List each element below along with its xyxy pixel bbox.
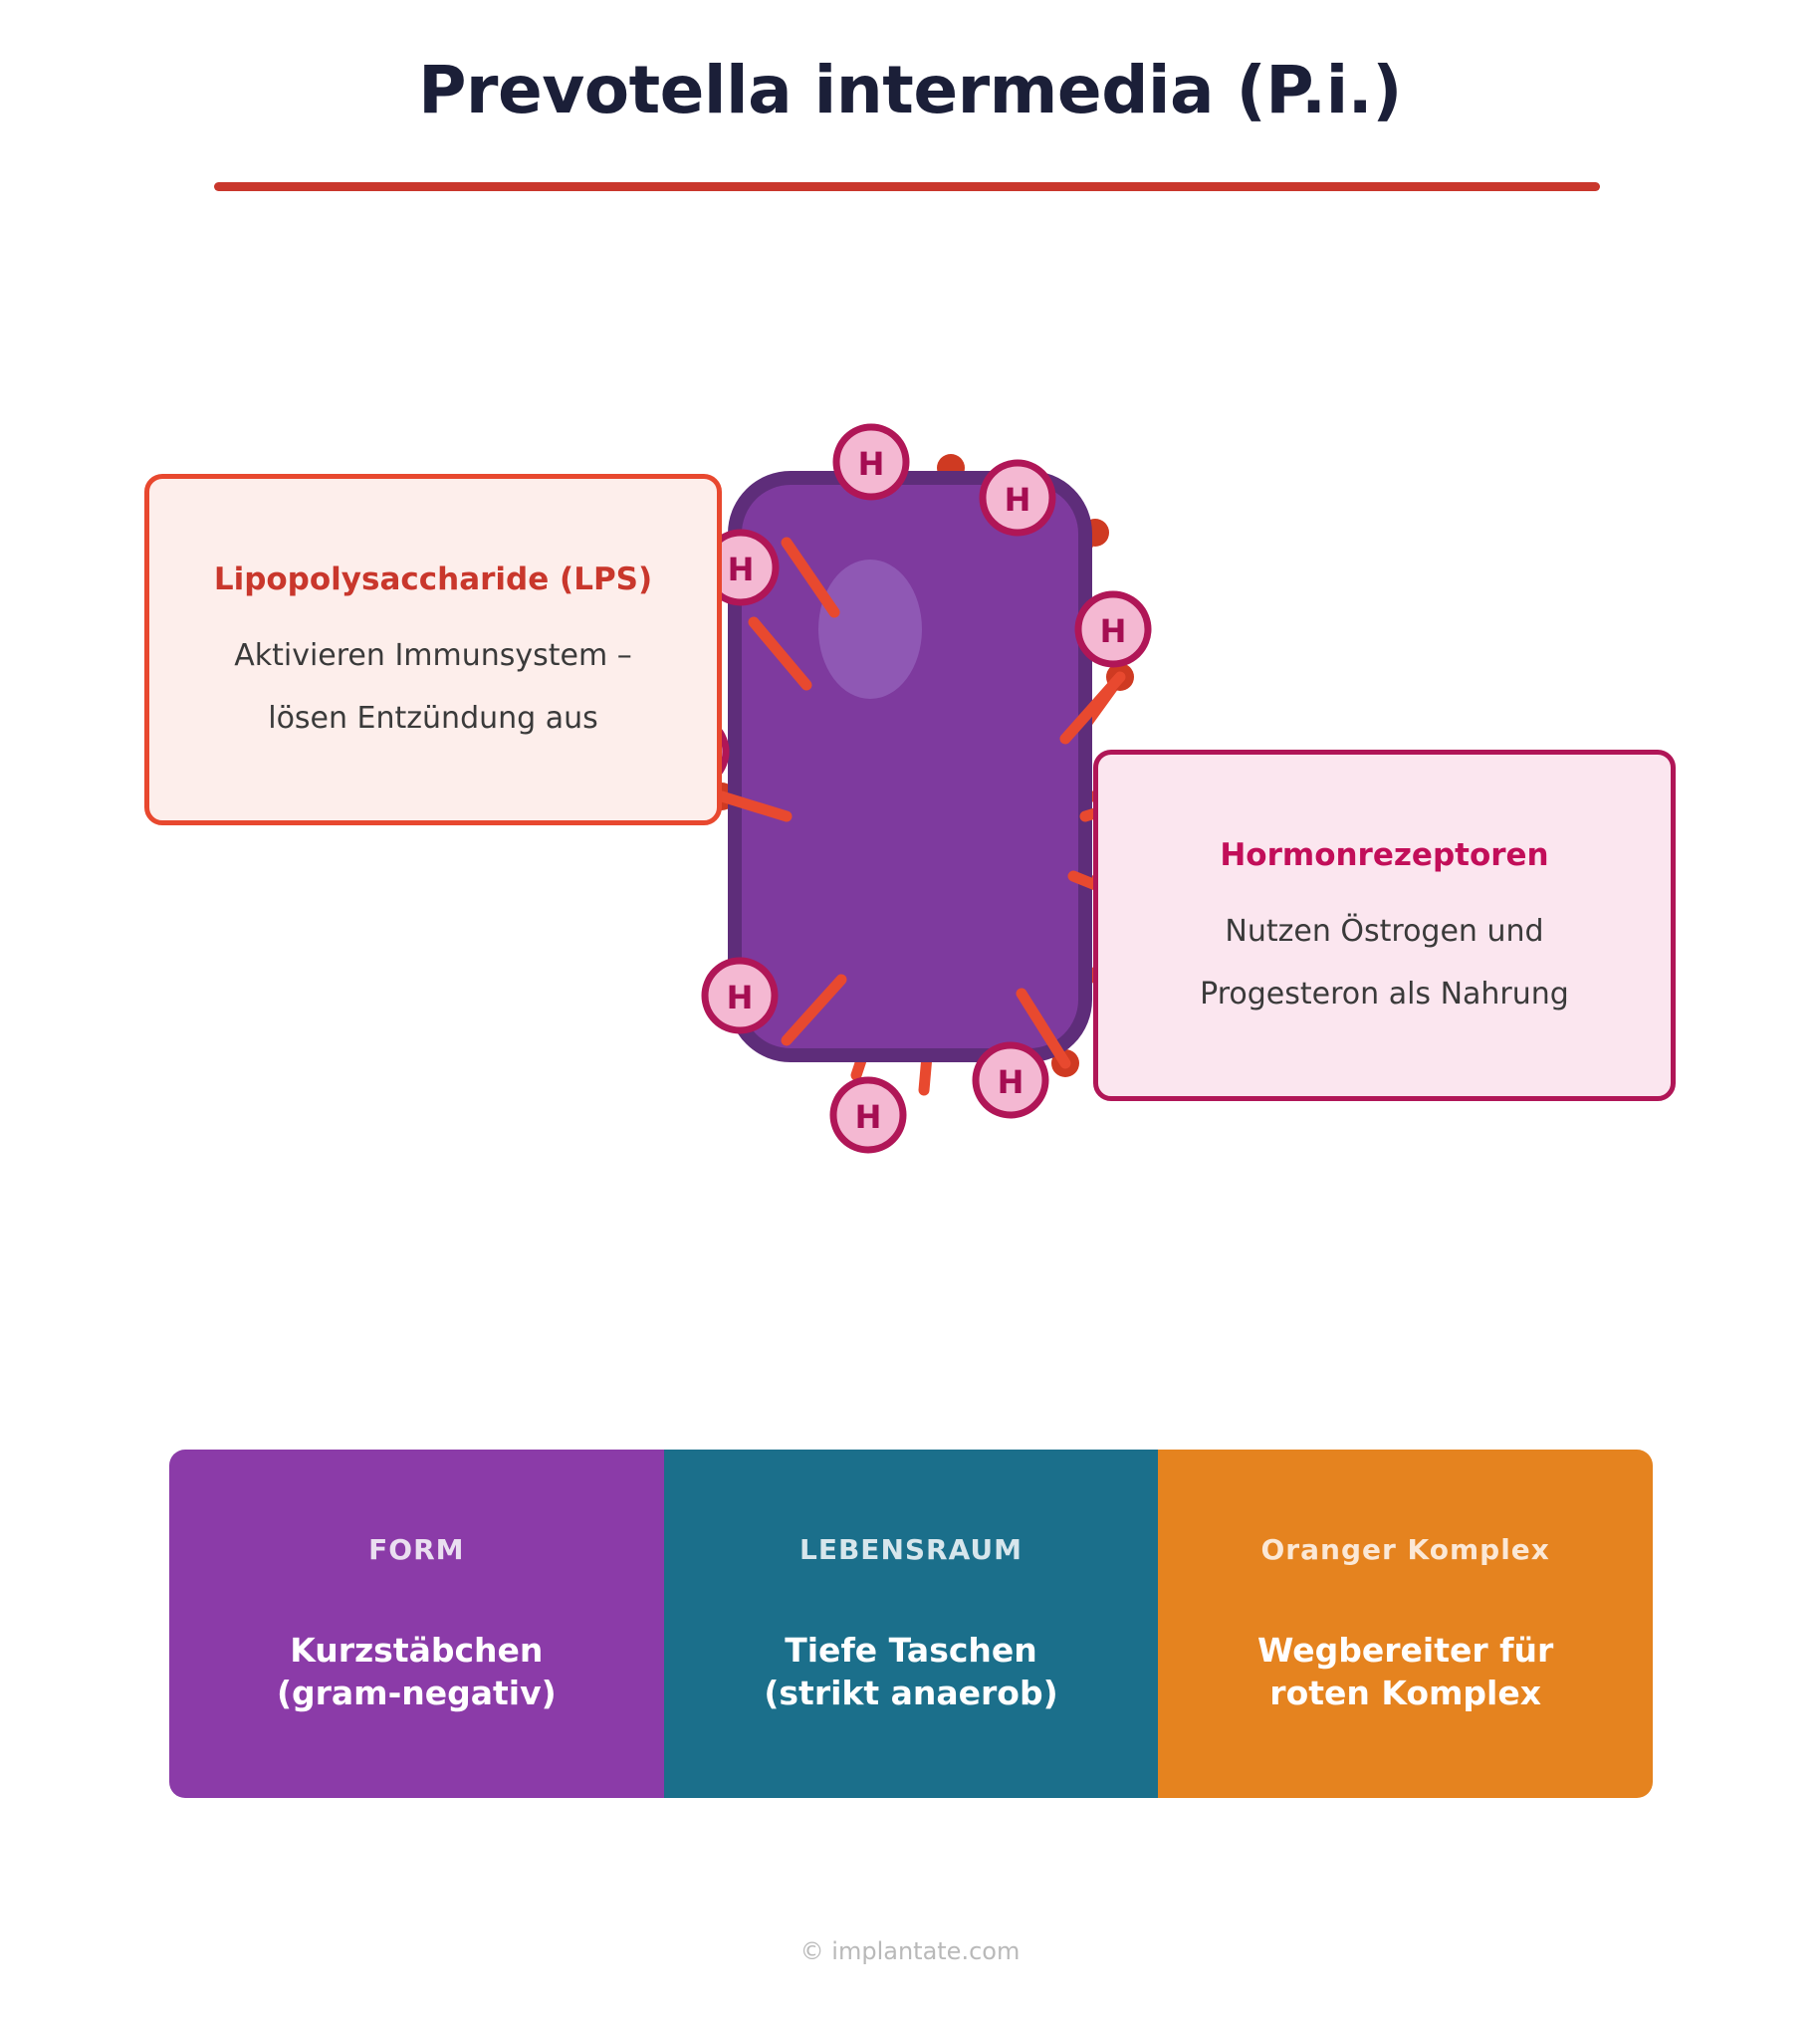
spacer [1124, 950, 1645, 976]
callout-lipopolysaccharide: Lipopolysaccharide (LPS) Aktivieren Immu… [144, 474, 722, 825]
cell-body [735, 478, 1085, 1055]
summary-card-komplex-body: Wegbereiter für roten Komplex [1257, 1630, 1553, 1713]
callout-lps-line1: Aktivieren Immunsystem – [175, 637, 691, 675]
hormone-receptor-badge: H [836, 427, 906, 497]
callout-hormon-title: Hormonrezeptoren [1124, 837, 1645, 874]
hormone-receptor-badge: H [1078, 594, 1148, 664]
summary-card-form-label: FORM [368, 1533, 464, 1566]
page-title: Prevotella intermedia (P.i.) [0, 52, 1820, 128]
spacer [175, 599, 691, 637]
summary-card-form-body: Kurzstäbchen (gram-negativ) [277, 1630, 557, 1713]
svg-text:H: H [998, 1063, 1024, 1101]
callout-hormon-line1: Nutzen Östrogen und [1124, 913, 1645, 951]
summary-card-oranger-komplex: Oranger Komplex Wegbereiter für roten Ko… [1158, 1450, 1653, 1798]
title-underline-rule [214, 182, 1600, 191]
hormone-receptor-badge: H [976, 1045, 1045, 1115]
summary-card-lebensraum-label: LEBENSRAUM [799, 1533, 1023, 1566]
callout-hormonrezeptoren: Hormonrezeptoren Nutzen Östrogen und Pro… [1093, 750, 1676, 1101]
footer-copyright: © implantate.com [0, 1937, 1820, 1965]
svg-text:H: H [855, 1098, 882, 1136]
summary-card-lebensraum: LEBENSRAUM Tiefe Taschen (strikt anaerob… [664, 1450, 1159, 1798]
svg-text:H: H [1005, 481, 1031, 519]
callout-lps-title: Lipopolysaccharide (LPS) [175, 561, 691, 598]
svg-text:H: H [727, 979, 754, 1016]
infographic-page: Prevotella intermedia (P.i.) [0, 0, 1820, 2019]
hormone-receptor-badge: H [983, 463, 1052, 533]
summary-card-row: FORM Kurzstäbchen (gram-negativ) LEBENSR… [169, 1450, 1653, 1798]
summary-card-lebensraum-body-line1: Tiefe Taschen [764, 1630, 1057, 1672]
summary-card-lebensraum-body: Tiefe Taschen (strikt anaerob) [764, 1630, 1057, 1713]
summary-card-komplex-body-line2: roten Komplex [1257, 1673, 1553, 1714]
hormone-receptor-badge: H [705, 961, 775, 1030]
summary-card-komplex-label: Oranger Komplex [1261, 1533, 1550, 1566]
hormone-receptor-badge: H [833, 1080, 903, 1150]
callout-lps-line2: lösen Entzündung aus [175, 700, 691, 738]
svg-text:H: H [858, 445, 885, 483]
summary-card-lebensraum-body-line2: (strikt anaerob) [764, 1673, 1057, 1714]
summary-card-form-body-line1: Kurzstäbchen [277, 1630, 557, 1672]
cell-nucleoid [818, 560, 922, 699]
spacer [175, 674, 691, 700]
summary-card-komplex-body-line1: Wegbereiter für [1257, 1630, 1553, 1672]
callout-hormon-line2: Progesteron als Nahrung [1124, 976, 1645, 1013]
svg-text:H: H [1100, 612, 1127, 650]
summary-card-form: FORM Kurzstäbchen (gram-negativ) [169, 1450, 664, 1798]
spacer [1124, 875, 1645, 913]
svg-text:H: H [728, 551, 755, 588]
summary-card-form-body-line2: (gram-negativ) [277, 1673, 557, 1714]
